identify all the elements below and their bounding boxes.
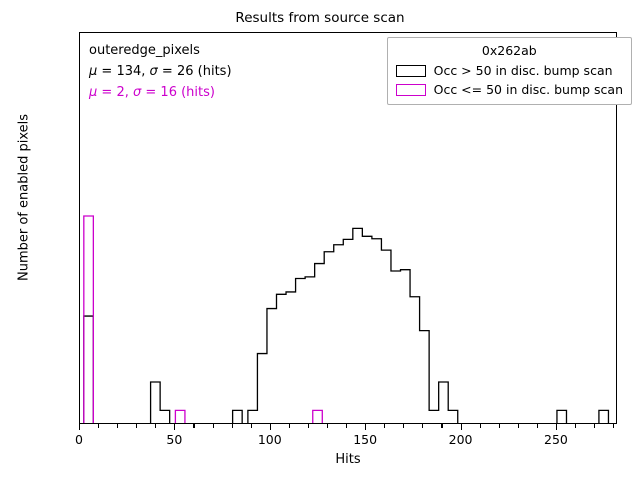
- figure: Results from source scan Number of enabl…: [0, 0, 640, 480]
- x-tick-label: 200: [449, 432, 473, 447]
- mu-black-value: 134: [116, 64, 141, 79]
- chart-title: Results from source scan: [0, 10, 640, 26]
- x-tick: [174, 424, 175, 430]
- x-minor-tick: [117, 424, 118, 428]
- annotation-name: outeredge_pixels: [89, 40, 232, 61]
- x-minor-tick: [346, 424, 347, 428]
- x-minor-tick: [155, 424, 156, 428]
- x-minor-tick: [594, 424, 595, 428]
- legend-swatch-icon: [396, 65, 426, 77]
- annotation-magenta-stats: μ = 2, σ = 16 (hits): [89, 82, 232, 103]
- x-tick: [365, 424, 366, 430]
- legend-swatch-icon: [396, 84, 426, 96]
- sigma-black-value: 26: [177, 64, 194, 79]
- annotation-black-stats: μ = 134, σ = 26 (hits): [89, 61, 232, 82]
- histogram-series: [84, 216, 322, 424]
- x-minor-tick: [480, 424, 481, 428]
- x-minor-tick: [441, 424, 442, 428]
- x-minor-tick: [518, 424, 519, 428]
- x-tick: [556, 424, 557, 430]
- x-tick-label: 0: [75, 432, 83, 447]
- annotation-block: outeredge_pixels μ = 134, σ = 26 (hits) …: [89, 40, 232, 103]
- legend-title: 0x262ab: [396, 42, 623, 61]
- x-minor-tick: [289, 424, 290, 428]
- x-minor-tick: [499, 424, 500, 428]
- sigma-magenta-value: 16: [160, 85, 177, 100]
- x-minor-tick: [98, 424, 99, 428]
- x-minor-tick: [613, 424, 614, 428]
- x-minor-tick: [327, 424, 328, 428]
- x-minor-tick: [384, 424, 385, 428]
- x-minor-tick: [308, 424, 309, 428]
- y-axis-label: Number of enabled pixels: [17, 2, 32, 394]
- x-minor-tick: [193, 424, 194, 428]
- x-minor-tick: [251, 424, 252, 428]
- histogram-series: [84, 228, 609, 424]
- x-tick: [270, 424, 271, 430]
- x-minor-tick: [403, 424, 404, 428]
- legend: 0x262ab Occ > 50 in disc. bump scan Occ …: [387, 37, 632, 105]
- legend-label: Occ > 50 in disc. bump scan: [434, 63, 613, 78]
- x-tick-label: 150: [353, 432, 377, 447]
- x-tick-label: 100: [258, 432, 282, 447]
- x-minor-tick: [422, 424, 423, 428]
- x-tick: [79, 424, 80, 430]
- x-tick-label: 250: [544, 432, 568, 447]
- x-minor-tick: [213, 424, 214, 428]
- x-axis-label: Hits: [79, 452, 617, 467]
- x-tick: [461, 424, 462, 430]
- mu-magenta-value: 2: [116, 85, 124, 100]
- x-minor-tick: [136, 424, 137, 428]
- x-minor-tick: [232, 424, 233, 428]
- legend-label: Occ <= 50 in disc. bump scan: [434, 82, 623, 97]
- x-minor-tick: [575, 424, 576, 428]
- legend-entry-magenta[interactable]: Occ <= 50 in disc. bump scan: [396, 80, 623, 99]
- x-tick-label: 50: [166, 432, 182, 447]
- x-minor-tick: [537, 424, 538, 428]
- legend-entry-black[interactable]: Occ > 50 in disc. bump scan: [396, 61, 623, 80]
